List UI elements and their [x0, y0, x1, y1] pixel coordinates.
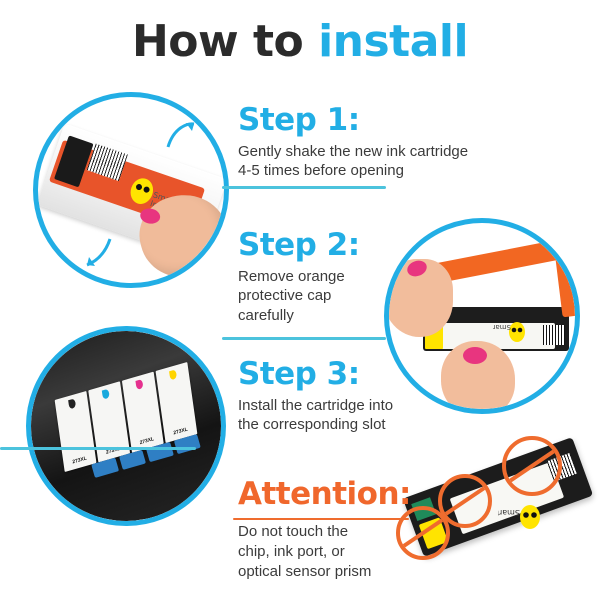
page-title-dark: How to [132, 16, 318, 67]
step-1-body: Gently shake the new ink cartridge 4-5 t… [238, 142, 538, 182]
svg-text:Smart: Smart [493, 323, 511, 331]
step-2-divider [222, 337, 386, 340]
smart-ink-logo: Smart [493, 319, 527, 345]
step-1-photo: Smart Ink [33, 92, 229, 288]
step-2-heading: Step 2: [238, 229, 418, 262]
step-1-heading: Step 1: [238, 104, 538, 137]
orange-protective-cap [434, 239, 565, 283]
step-3-body: Install the cartridge into the correspon… [238, 396, 538, 436]
attention-heading: Attention: [238, 478, 468, 511]
step-1-divider [222, 186, 386, 189]
barcode-icon [543, 325, 565, 345]
shake-arrow-up-icon [164, 119, 198, 153]
step-1-photo-inner: Smart Ink [38, 97, 224, 283]
step-1-text-block: Step 1: Gently shake the new ink cartrid… [238, 104, 538, 181]
ink-drop-icon [169, 370, 177, 381]
no-touch-optical-sensor-marker [502, 436, 562, 496]
attention-divider [233, 518, 409, 520]
step-3-divider [0, 447, 196, 450]
page-title-accent: install [318, 16, 468, 67]
attention-text-block: Attention: [238, 478, 468, 511]
step-2-body: Remove orange protective cap carefully [238, 267, 418, 326]
shake-arrow-down-icon [82, 235, 116, 269]
barcode-icon [87, 144, 128, 182]
step-3-photo-inner: 273XL 273XL 273XL 273XL [31, 331, 221, 521]
infographic-page: How to install Smart Ink [0, 0, 600, 600]
attention-body-block: Do not touch the chip, ink port, or opti… [238, 522, 468, 581]
step-3-heading: Step 3: [238, 358, 538, 391]
page-title: How to install [0, 16, 600, 67]
step-3-text-block: Step 3: Install the cartridge into the c… [238, 358, 538, 435]
ink-drop-icon [101, 389, 109, 400]
ink-drop-icon [135, 379, 143, 390]
smart-ink-logo: Smart [498, 502, 542, 534]
ink-drop-icon [68, 399, 76, 410]
step-2-text-block: Step 2: Remove orange protective cap car… [238, 229, 418, 326]
svg-text:Smart: Smart [498, 508, 520, 517]
step-3-photo: 273XL 273XL 273XL 273XL [26, 326, 226, 526]
attention-body: Do not touch the chip, ink port, or opti… [238, 522, 468, 581]
fingernail [139, 207, 161, 225]
